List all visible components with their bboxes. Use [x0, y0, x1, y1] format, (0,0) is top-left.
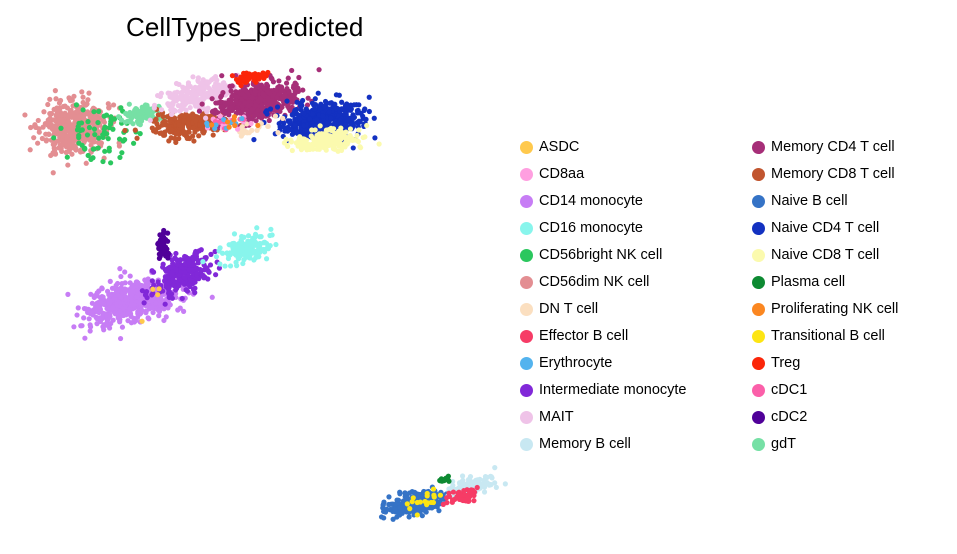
legend-color-swatch — [520, 222, 533, 235]
legend-color-swatch — [520, 330, 533, 343]
legend-item[interactable]: Naive B cell — [752, 188, 898, 215]
legend-color-swatch — [520, 276, 533, 289]
legend-item-label: DN T cell — [539, 302, 598, 317]
legend-item[interactable]: CD56dim NK cell — [520, 269, 687, 296]
legend-color-swatch — [752, 357, 765, 370]
legend-item-label: Memory B cell — [539, 437, 631, 452]
legend-item[interactable]: MAIT — [520, 404, 687, 431]
legend-color-swatch — [520, 168, 533, 181]
legend-color-swatch — [520, 384, 533, 397]
legend-color-swatch — [520, 195, 533, 208]
scatter-cluster — [155, 228, 171, 261]
legend-item-label: Effector B cell — [539, 329, 628, 344]
legend-item-label: Memory CD4 T cell — [771, 140, 895, 155]
legend: ASDCCD8aaCD14 monocyteCD16 monocyteCD56b… — [520, 134, 950, 454]
legend-item-label: Intermediate monocyte — [539, 383, 687, 398]
legend-item[interactable]: Treg — [752, 350, 898, 377]
legend-item[interactable]: Effector B cell — [520, 323, 687, 350]
scatter-cluster — [200, 225, 278, 268]
legend-color-swatch — [752, 438, 765, 451]
legend-color-swatch — [752, 249, 765, 262]
legend-item[interactable]: CD14 monocyte — [520, 188, 687, 215]
legend-item-label: ASDC — [539, 140, 579, 155]
legend-color-swatch — [752, 303, 765, 316]
legend-item-label: gdT — [771, 437, 796, 452]
legend-item[interactable]: Transitional B cell — [752, 323, 898, 350]
legend-color-swatch — [752, 168, 765, 181]
legend-color-swatch — [752, 222, 765, 235]
legend-column-left: ASDCCD8aaCD14 monocyteCD16 monocyteCD56b… — [520, 134, 687, 458]
legend-item[interactable]: Memory CD4 T cell — [752, 134, 898, 161]
legend-color-swatch — [752, 276, 765, 289]
legend-item-label: Naive B cell — [771, 194, 848, 209]
legend-item-label: CD56dim NK cell — [539, 275, 649, 290]
legend-item[interactable]: Erythrocyte — [520, 350, 687, 377]
legend-color-swatch — [520, 357, 533, 370]
legend-color-swatch — [752, 195, 765, 208]
legend-item[interactable]: Naive CD8 T cell — [752, 242, 898, 269]
legend-item-label: MAIT — [539, 410, 574, 425]
scatter-cluster — [437, 474, 451, 484]
legend-item-label: Proliferating NK cell — [771, 302, 898, 317]
legend-item-label: Memory CD8 T cell — [771, 167, 895, 182]
legend-color-swatch — [520, 249, 533, 262]
legend-column-right: Memory CD4 T cellMemory CD8 T cellNaive … — [752, 134, 898, 458]
legend-item[interactable]: DN T cell — [520, 296, 687, 323]
legend-item[interactable]: cDC2 — [752, 404, 898, 431]
legend-color-swatch — [520, 303, 533, 316]
legend-color-swatch — [520, 438, 533, 451]
legend-item-label: Treg — [771, 356, 800, 371]
legend-item-label: cDC2 — [771, 410, 807, 425]
legend-item[interactable]: ASDC — [520, 134, 687, 161]
legend-item[interactable]: Memory CD8 T cell — [752, 161, 898, 188]
legend-color-swatch — [752, 411, 765, 424]
legend-item-label: CD14 monocyte — [539, 194, 643, 209]
legend-item[interactable]: Proliferating NK cell — [752, 296, 898, 323]
legend-item-label: Naive CD8 T cell — [771, 248, 879, 263]
legend-color-swatch — [520, 141, 533, 154]
legend-item[interactable]: Memory B cell — [520, 431, 687, 458]
legend-color-swatch — [752, 141, 765, 154]
legend-item-label: CD56bright NK cell — [539, 248, 662, 263]
legend-item-label: Erythrocyte — [539, 356, 612, 371]
legend-color-swatch — [520, 411, 533, 424]
legend-item[interactable]: CD8aa — [520, 161, 687, 188]
legend-color-swatch — [752, 330, 765, 343]
legend-item[interactable]: CD56bright NK cell — [520, 242, 687, 269]
legend-item-label: CD16 monocyte — [539, 221, 643, 236]
legend-item[interactable]: Intermediate monocyte — [520, 377, 687, 404]
legend-color-swatch — [752, 384, 765, 397]
legend-item[interactable]: gdT — [752, 431, 898, 458]
legend-item-label: Naive CD4 T cell — [771, 221, 879, 236]
legend-item[interactable]: Naive CD4 T cell — [752, 215, 898, 242]
scatter-points-group — [22, 67, 508, 522]
legend-item-label: cDC1 — [771, 383, 807, 398]
legend-item-label: Transitional B cell — [771, 329, 885, 344]
umap-plot-page: CellTypes_predicted ASDCCD8aaCD14 monocy… — [0, 0, 957, 554]
legend-item[interactable]: Plasma cell — [752, 269, 898, 296]
legend-item-label: Plasma cell — [771, 275, 845, 290]
legend-item-label: CD8aa — [539, 167, 584, 182]
legend-item[interactable]: CD16 monocyte — [520, 215, 687, 242]
legend-item[interactable]: cDC1 — [752, 377, 898, 404]
